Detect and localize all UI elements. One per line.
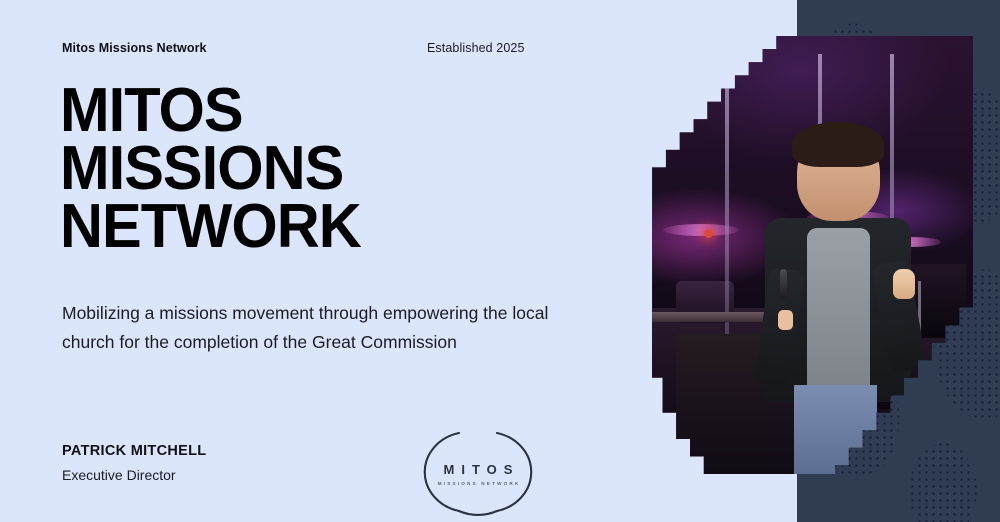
brand-banner: Mitos Missions Network Established 2025 … [0, 0, 1000, 522]
credit-role: Executive Director [62, 467, 206, 483]
microphone-icon [780, 269, 787, 299]
mitos-logo: MITOS MISSIONS NETWORK [415, 424, 541, 520]
speaker-hand [778, 310, 793, 330]
established-label: Established 2025 [427, 41, 525, 55]
headline-line-2: MISSIONS [60, 140, 559, 198]
brand-eyebrow: Mitos Missions Network [62, 41, 207, 55]
thumbs-up-icon [893, 269, 915, 299]
credit-name: PATRICK MITCHELL [62, 443, 206, 459]
stage-light-icon [704, 229, 713, 238]
headline-line-1: MITOS [60, 82, 559, 140]
speaker-shirt [807, 228, 870, 392]
logo-wordmark: MITOS [415, 462, 541, 477]
logo-tagline: MISSIONS NETWORK [415, 481, 541, 486]
page-title: MITOS MISSIONS NETWORK [60, 82, 559, 256]
hero-composition [600, 0, 1000, 522]
credit-block: PATRICK MITCHELL Executive Director [62, 443, 206, 483]
stage-truss [725, 54, 729, 378]
speaker-hair [792, 122, 884, 166]
subheadline: Mobilizing a missions movement through e… [62, 299, 597, 356]
headline-line-3: NETWORK [60, 198, 559, 256]
